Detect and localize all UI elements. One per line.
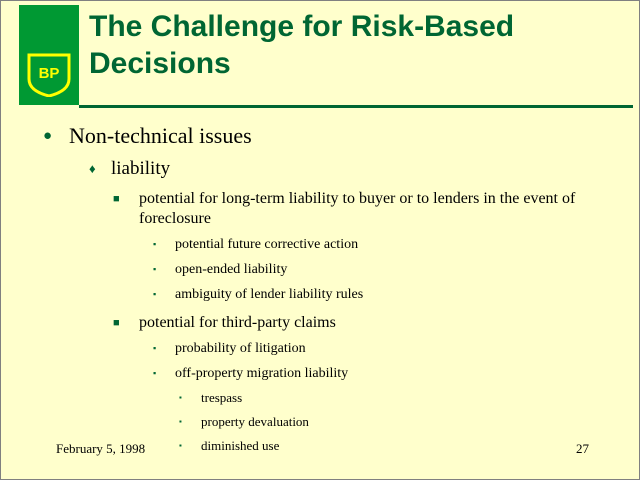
bullet-text: Non-technical issues [69, 123, 252, 149]
bullet-item-l2: ♦ liability [1, 157, 640, 180]
bullet-text: potential for third-party claims [139, 313, 619, 333]
bullet-glyph-l4: ▪ [153, 364, 175, 383]
bullet-glyph-l1: ● [43, 123, 69, 149]
bullet-glyph-l4: ▪ [153, 260, 175, 279]
footer-date: February 5, 1998 [56, 441, 145, 457]
header-divider [79, 105, 633, 108]
bullet-text: potential for long-term liability to buy… [139, 189, 619, 229]
bullet-item-l4: ▪ potential future corrective action [1, 235, 640, 254]
bullet-item-l4: ▪ off-property migration liability [1, 364, 640, 383]
bullet-item-l5: ▪ property devaluation [1, 413, 640, 431]
bullet-item-l1: ● Non-technical issues [1, 123, 640, 149]
bullet-item-l3: ■ potential for third-party claims [1, 313, 640, 333]
bullet-glyph-l5: ▪ [179, 389, 201, 407]
bullet-text: ambiguity of lender liability rules [175, 285, 363, 304]
slide-title: The Challenge for Risk-Based Decisions [89, 9, 629, 82]
bullet-item-l3: ■ potential for long-term liability to b… [1, 189, 640, 229]
bullet-item-l4: ▪ open-ended liability [1, 260, 640, 279]
bullet-glyph-l3: ■ [113, 189, 139, 209]
svg-text:BP: BP [39, 65, 60, 82]
bullet-glyph-l2: ♦ [89, 157, 111, 180]
bullet-text: property devaluation [201, 413, 309, 431]
footer-page-number: 27 [576, 441, 589, 457]
slide: BP The Challenge for Risk-Based Decision… [0, 0, 640, 480]
bullet-glyph-l5: ▪ [179, 413, 201, 431]
bullet-text: off-property migration liability [175, 364, 348, 383]
bullet-text: open-ended liability [175, 260, 287, 279]
bullet-item-l4: ▪ probability of litigation [1, 339, 640, 358]
bullet-text: diminished use [201, 437, 279, 455]
bullet-item-l5: ▪ trespass [1, 389, 640, 407]
bullet-glyph-l3: ■ [113, 313, 139, 333]
bullet-glyph-l4: ▪ [153, 339, 175, 358]
slide-body: ● Non-technical issues ♦ liability ■ pot… [1, 113, 640, 455]
bullet-glyph-l4: ▪ [153, 235, 175, 254]
bullet-text: liability [111, 157, 170, 180]
bullet-text: probability of litigation [175, 339, 306, 358]
bullet-item-l4: ▪ ambiguity of lender liability rules [1, 285, 640, 304]
bp-shield-logo: BP [27, 53, 71, 97]
bullet-text: trespass [201, 389, 242, 407]
bullet-glyph-l4: ▪ [153, 285, 175, 304]
bullet-glyph-l5: ▪ [179, 437, 201, 455]
bullet-text: potential future corrective action [175, 235, 358, 254]
